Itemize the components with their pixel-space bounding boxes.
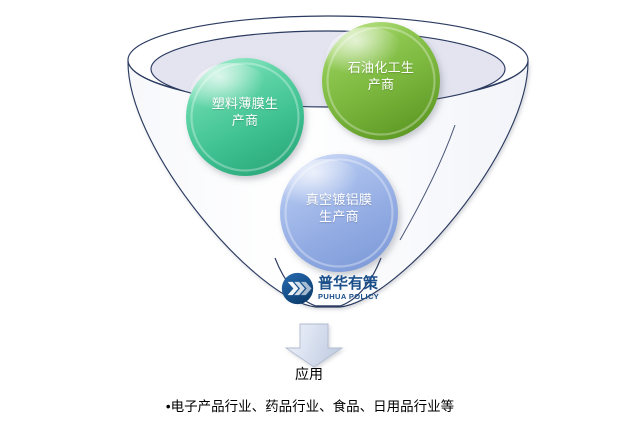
diagram-canvas: 塑料薄膜生 产商 石油化工生 产商 真空镀铝膜 生产商 普华有策 PUHUA P… [0,0,618,430]
brand-name-cn: 普华有策 [318,276,379,291]
bubble-vacuum-aluminized [280,154,398,272]
puhua-policy-logo: 普华有策 PUHUA POLICY [281,270,399,306]
funnel-diagram-svg [0,0,618,430]
brand-text-block: 普华有策 PUHUA POLICY [318,276,379,301]
bubble-petrochemical [322,22,440,140]
down-arrow-icon [286,324,342,367]
brand-name-en: PUHUA POLICY [318,293,379,301]
triple-chevron-icon [281,272,314,305]
bubble-plastic-film [186,58,304,176]
